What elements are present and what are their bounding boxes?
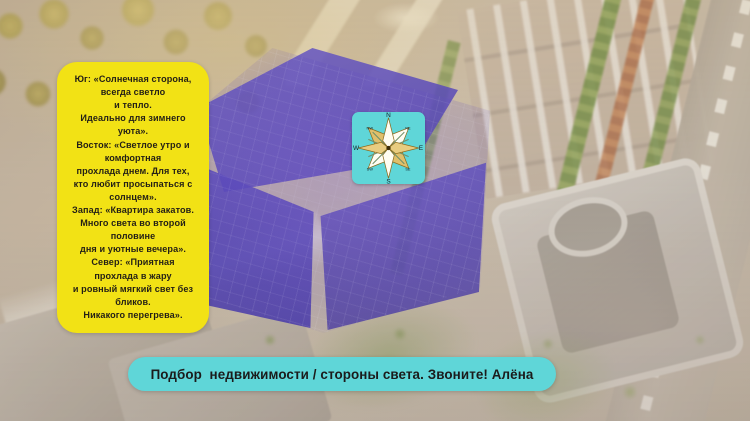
compass-label-w: W [353,145,360,152]
orientation-info-text: Юг: «Солнечная сторона, всегда светло и … [66,73,200,322]
cta-banner-text: Подбор недвижимости / стороны света. Зво… [151,367,534,382]
cta-banner[interactable]: Подбор недвижимости / стороны света. Зво… [128,357,556,391]
screenshot-root: N E S W NW NE SW SE Юг: «Солнечная сторо… [0,0,750,421]
compass-center-hub [386,146,390,150]
compass-label-nw: NW [367,125,374,130]
orientation-info-card: Юг: «Солнечная сторона, всегда светло и … [57,62,209,333]
highlighted-building [170,48,490,333]
compass-label-ne: NE [405,125,411,130]
compass-label-se: SE [405,166,411,171]
compass-label-s: S [386,178,391,184]
compass-rose: N E S W NW NE SW SE [352,112,425,184]
compass-label-sw: SW [367,166,374,171]
compass-label-e: E [419,145,424,152]
compass-label-n: N [386,112,391,119]
